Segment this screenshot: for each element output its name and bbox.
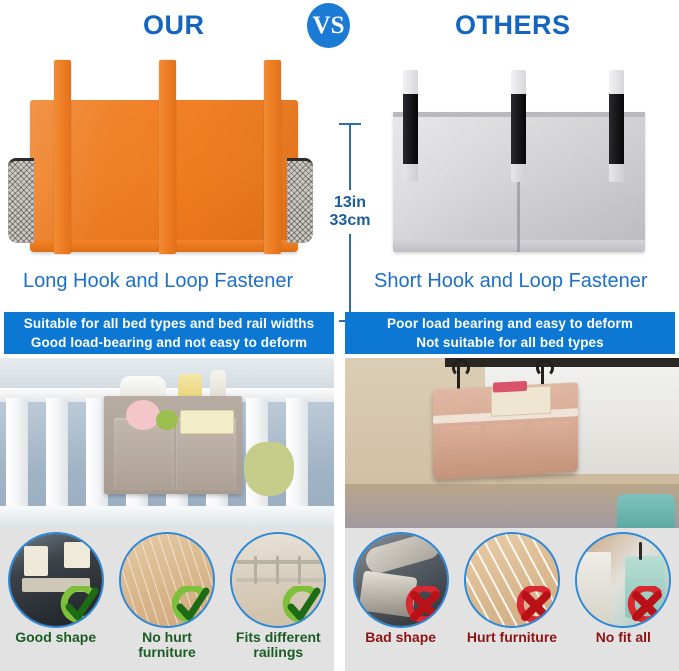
green-check-icon xyxy=(60,586,100,626)
plush-elephant xyxy=(244,442,294,496)
railing-bar xyxy=(236,560,324,564)
railing-post xyxy=(298,556,301,584)
feature-label: Good shape xyxy=(15,630,96,645)
ours-fastener-strap xyxy=(264,60,281,254)
feature-photo-circle xyxy=(230,532,326,628)
ours-mesh-pocket-left xyxy=(8,158,34,243)
others-heading: OTHERS xyxy=(455,10,571,41)
baby-book xyxy=(180,410,234,434)
caddy-pocket xyxy=(529,421,569,465)
others-fastener-strap xyxy=(403,70,418,182)
scene-photo-row xyxy=(0,358,679,528)
dimension-centimeters: 33cm xyxy=(324,212,376,230)
others-scene-photo xyxy=(345,358,679,528)
plush-toy-green xyxy=(156,410,178,430)
feature-item-fits-different-railings: Fits different railings xyxy=(226,532,330,660)
ours-claim-banner: Suitable for all bed types and bed rail … xyxy=(4,312,334,354)
ours-crib-caddy xyxy=(104,396,242,494)
others-fastener-strap xyxy=(609,70,624,182)
strap-band xyxy=(609,94,624,166)
crib-rail-bottom xyxy=(0,506,334,528)
strap-band xyxy=(511,94,526,166)
feature-photo-circle xyxy=(575,532,671,628)
others-feature-panel: Bad shape Hurt furniture xyxy=(345,528,679,671)
ours-product-image xyxy=(8,62,313,264)
strap-foot xyxy=(403,164,418,182)
feature-label: No fit all xyxy=(596,630,651,645)
strap-tip xyxy=(511,70,526,96)
feature-photo-circle xyxy=(8,532,104,628)
ours-fastener-strap xyxy=(159,60,176,254)
ours-claim-line-2: Good load-bearing and not easy to deform xyxy=(31,333,307,352)
others-claim-line-2: Not suitable for all bed types xyxy=(416,333,604,352)
hook-icon xyxy=(639,542,642,560)
organizer-book xyxy=(64,542,90,568)
feature-item-bad-shape: Bad shape xyxy=(349,532,453,645)
strap-foot xyxy=(511,164,526,182)
red-cross-icon xyxy=(516,586,556,626)
strap-tip xyxy=(609,70,624,96)
desk-edge-strip xyxy=(445,358,679,367)
feature-strip-row: Good shape No hurt furniture xyxy=(0,528,679,671)
feature-item-hurt-furniture: Hurt furniture xyxy=(460,532,564,645)
fastener-caption-row: Long Hook and Loop Fastener Short Hook a… xyxy=(0,266,679,306)
ours-scene-photo xyxy=(0,358,334,528)
feature-item-no-fit-all: No fit all xyxy=(571,532,675,645)
header: OUR VS OTHERS xyxy=(0,0,679,56)
railing-bar xyxy=(236,578,324,582)
dimension-value: 13in 33cm xyxy=(324,190,376,234)
comparison-infographic: OUR VS OTHERS 13in 33cm xyxy=(0,0,679,671)
organizer-papers xyxy=(24,546,48,576)
ours-fastener-caption: Long Hook and Loop Fastener xyxy=(23,270,293,293)
feature-label: No hurt furniture xyxy=(115,630,219,660)
railing-post xyxy=(254,556,257,584)
ours-heading: OUR xyxy=(143,10,205,41)
caddy-pocket xyxy=(441,425,481,469)
dimension-cap-top xyxy=(339,123,361,125)
others-product-image xyxy=(375,68,665,258)
bed-frame-edge xyxy=(577,552,611,626)
others-pink-caddy xyxy=(433,382,578,480)
green-check-icon xyxy=(171,586,211,626)
feature-label: Fits different railings xyxy=(236,630,321,660)
others-fastener-caption: Short Hook and Loop Fastener xyxy=(374,270,648,293)
ours-claim-line-1: Suitable for all bed types and bed rail … xyxy=(24,314,314,333)
others-fastener-strap xyxy=(511,70,526,182)
feature-label: Bad shape xyxy=(365,630,436,645)
feature-photo-circle xyxy=(464,532,560,628)
product-comparison-row: 13in 33cm xyxy=(0,56,679,266)
stored-cloth xyxy=(493,381,527,393)
red-cross-icon xyxy=(405,586,445,626)
feature-item-good-shape: Good shape xyxy=(4,532,108,645)
railing-post xyxy=(276,556,279,584)
feature-photo-circle xyxy=(353,532,449,628)
feature-item-no-hurt-furniture: No hurt furniture xyxy=(115,532,219,660)
feature-label: Hurt furniture xyxy=(467,630,557,645)
caddy-pocket xyxy=(485,423,525,467)
claim-banner-row: Suitable for all bed types and bed rail … xyxy=(0,312,679,356)
dimension-inches: 13in xyxy=(324,194,376,212)
ours-feature-panel: Good shape No hurt furniture xyxy=(0,528,334,671)
feature-photo-circle xyxy=(119,532,215,628)
others-claim-banner: Poor load bearing and easy to deform Not… xyxy=(345,312,675,354)
ours-mesh-pocket-right xyxy=(287,158,313,243)
red-cross-icon xyxy=(627,586,667,626)
green-check-icon xyxy=(282,586,322,626)
strap-foot xyxy=(609,164,624,182)
plush-toy-pink xyxy=(126,400,160,430)
teal-chair xyxy=(617,494,675,528)
strap-band xyxy=(403,94,418,166)
others-claim-line-1: Poor load bearing and easy to deform xyxy=(387,314,633,333)
vs-badge: VS xyxy=(307,3,350,48)
ours-fastener-strap xyxy=(54,60,71,254)
strap-tip xyxy=(403,70,418,96)
